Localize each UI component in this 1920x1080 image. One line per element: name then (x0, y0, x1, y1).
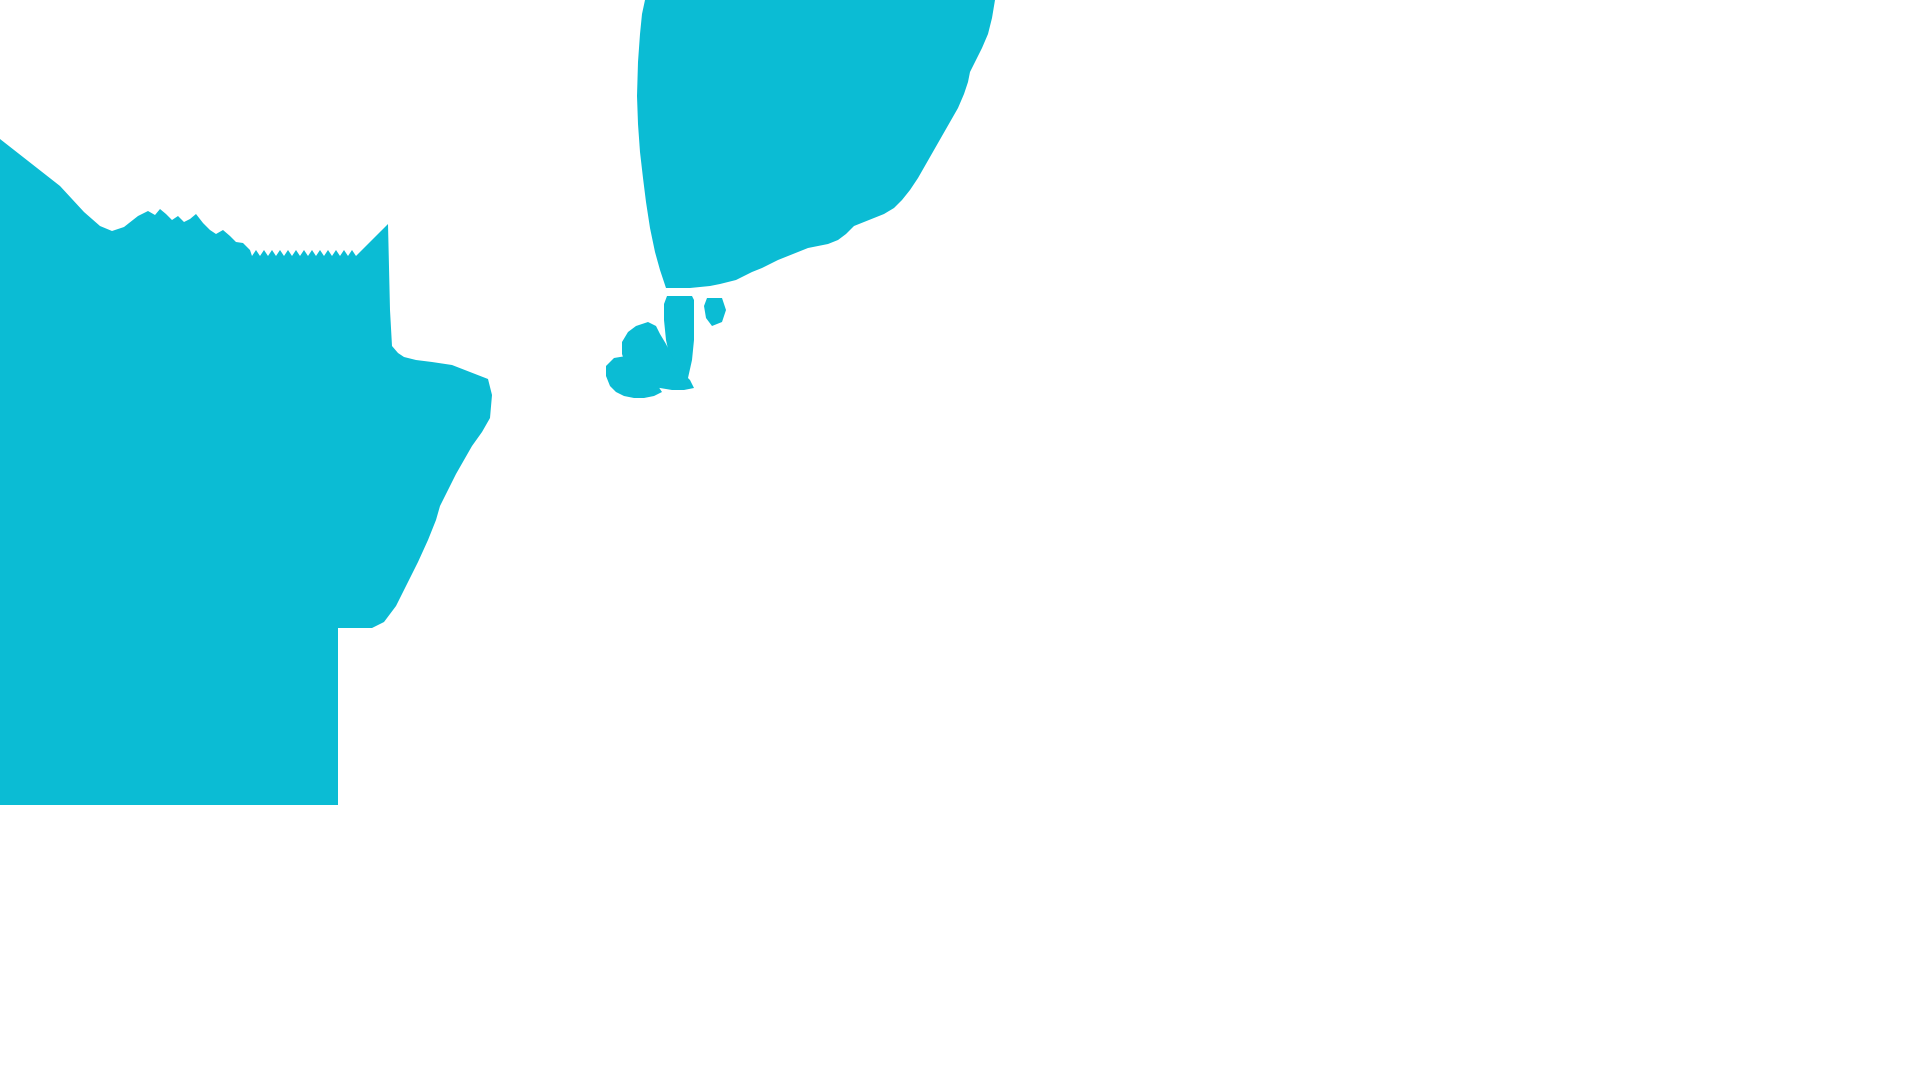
map-canvas: main-landmass upper-right-landmass cente… (0, 0, 1920, 1080)
main-landmass (0, 139, 492, 805)
center-island-small (704, 298, 726, 326)
map-svg (0, 0, 1920, 1080)
upper-right-landmass (637, 0, 995, 288)
